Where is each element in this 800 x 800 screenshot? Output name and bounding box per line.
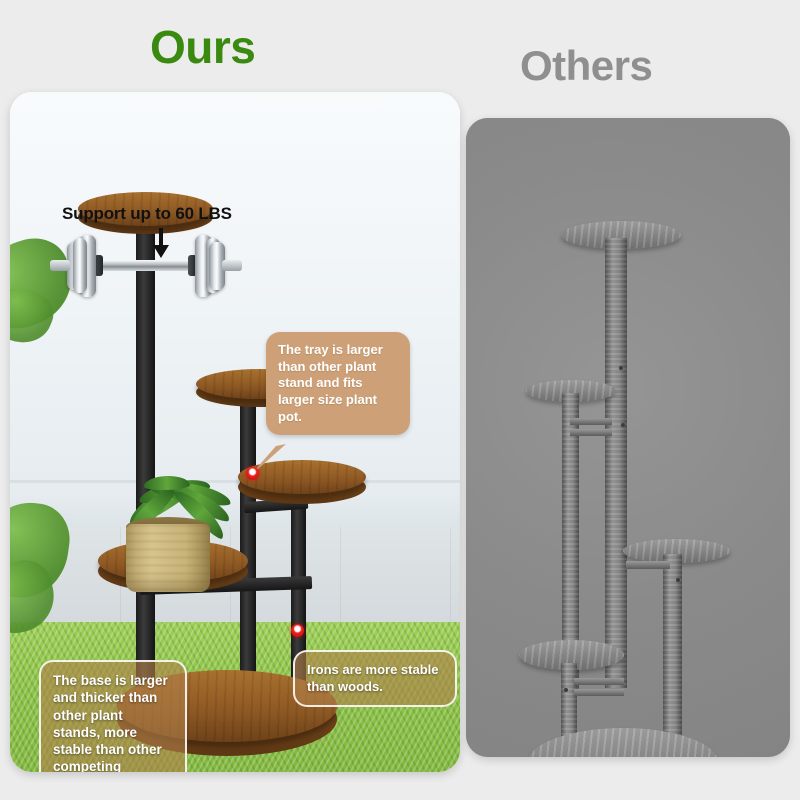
dumbbell-bar — [96, 260, 194, 271]
others-left-mid-rail — [570, 418, 612, 425]
others-right-rail — [626, 561, 670, 569]
callout-iron-stability: Irons are more stable than woods. — [293, 650, 457, 707]
support-capacity-label: Support up to 60 LBS — [62, 204, 232, 224]
others-product-card — [466, 118, 790, 757]
wall-background — [10, 92, 460, 527]
ours-scene: Support up to 60 LBS The tray is larger … — [10, 92, 460, 772]
dumbbell-plate-left-inner — [73, 238, 87, 293]
others-screw-mid — [621, 423, 625, 427]
planter-pot — [126, 524, 210, 592]
others-lower-left-rail — [574, 678, 624, 685]
others-center-post — [605, 238, 627, 688]
marker-dot-irons — [291, 624, 304, 637]
stand-secondary-pole — [240, 387, 256, 707]
ours-product-card: Support up to 60 LBS The tray is larger … — [10, 92, 460, 772]
wall-band — [10, 480, 460, 483]
others-screw-lower — [564, 688, 568, 692]
stand-main-pole — [136, 227, 155, 727]
heading-others: Others — [520, 42, 652, 90]
others-screw-top — [619, 366, 623, 370]
others-right-post — [663, 554, 682, 757]
arrow-down-icon — [152, 228, 170, 258]
wall-texture — [10, 493, 460, 527]
heading-ours: Ours — [150, 20, 255, 74]
others-background — [466, 118, 790, 757]
callout-tray-size: The tray is larger than other plant stan… — [266, 332, 410, 435]
others-left-mid-rail-2 — [570, 429, 612, 436]
marker-dot-tray — [246, 467, 259, 480]
dumbbell-tip-right — [222, 260, 242, 271]
others-screw-right — [676, 578, 680, 582]
others-lower-left-rail-2 — [574, 689, 624, 696]
callout-base-size: The base is larger and thicker than othe… — [39, 660, 187, 772]
dumbbell-tip-left — [50, 260, 70, 271]
